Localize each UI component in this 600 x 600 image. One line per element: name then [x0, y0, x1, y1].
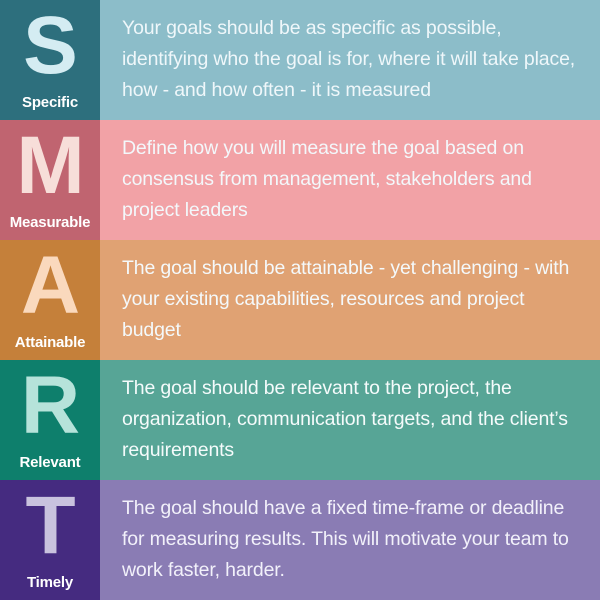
description-cell-timely: The goal should have a fixed time-frame … — [100, 480, 600, 600]
smart-row-attainable: A Attainable The goal should be attainab… — [0, 240, 600, 360]
smart-row-specific: S Specific Your goals should be as speci… — [0, 0, 600, 120]
description-text-timely: The goal should have a fixed time-frame … — [122, 493, 586, 586]
big-letter-s: S — [0, 0, 100, 94]
row-label-timely: Timely — [0, 574, 100, 591]
smart-row-relevant: R Relevant The goal should be relevant t… — [0, 360, 600, 480]
description-cell-specific: Your goals should be as specific as poss… — [100, 0, 600, 120]
description-cell-measurable: Define how you will measure the goal bas… — [100, 120, 600, 240]
smart-goals-infographic: S Specific Your goals should be as speci… — [0, 0, 600, 600]
row-label-measurable: Measurable — [0, 214, 100, 231]
row-label-attainable: Attainable — [0, 334, 100, 351]
description-text-measurable: Define how you will measure the goal bas… — [122, 133, 586, 226]
big-letter-a: A — [0, 240, 100, 334]
row-label-relevant: Relevant — [0, 454, 100, 471]
description-text-relevant: The goal should be relevant to the proje… — [122, 373, 586, 466]
big-letter-r: R — [0, 360, 100, 454]
description-cell-relevant: The goal should be relevant to the proje… — [100, 360, 600, 480]
letter-cell-attainable: A Attainable — [0, 240, 100, 360]
letter-cell-specific: S Specific — [0, 0, 100, 120]
description-text-attainable: The goal should be attainable - yet chal… — [122, 253, 586, 346]
description-text-specific: Your goals should be as specific as poss… — [122, 13, 586, 106]
row-label-specific: Specific — [0, 94, 100, 111]
letter-cell-relevant: R Relevant — [0, 360, 100, 480]
smart-row-measurable: M Measurable Define how you will measure… — [0, 120, 600, 240]
big-letter-m: M — [0, 120, 100, 214]
smart-row-timely: T Timely The goal should have a fixed ti… — [0, 480, 600, 600]
letter-cell-measurable: M Measurable — [0, 120, 100, 240]
big-letter-t: T — [0, 480, 100, 574]
description-cell-attainable: The goal should be attainable - yet chal… — [100, 240, 600, 360]
letter-cell-timely: T Timely — [0, 480, 100, 600]
